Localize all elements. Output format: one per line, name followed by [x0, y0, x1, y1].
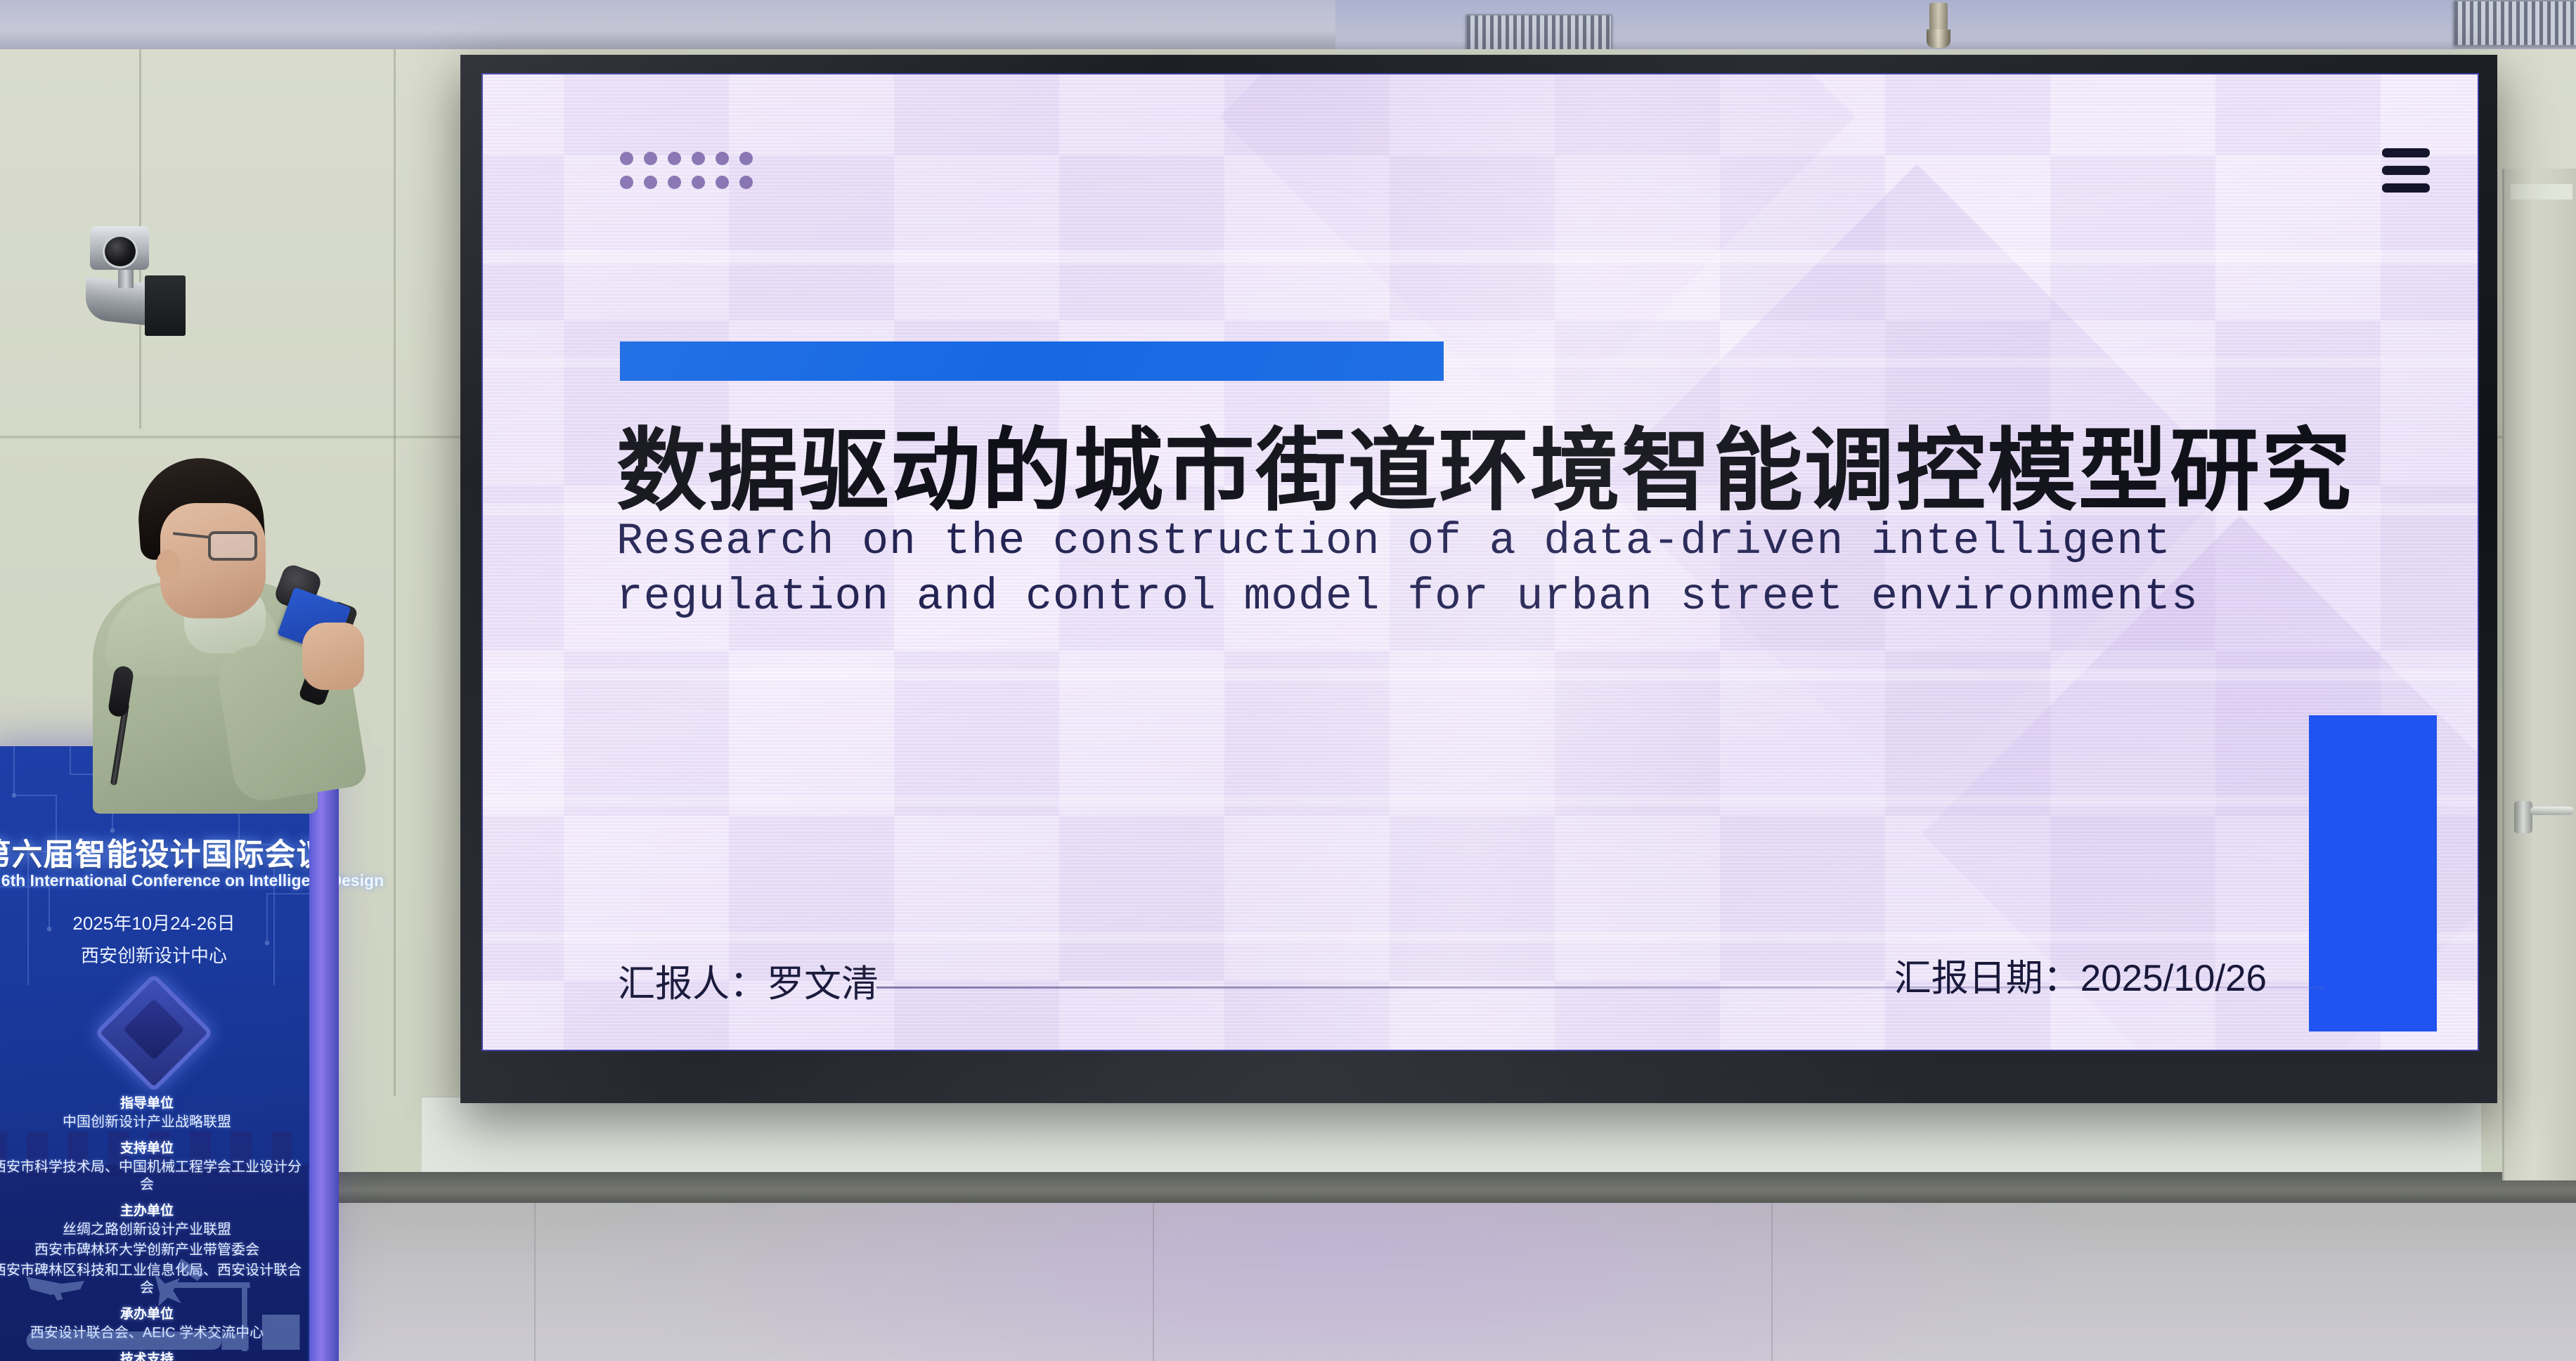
floor	[0, 1203, 2576, 1361]
speaker-ear	[156, 549, 180, 582]
camera-wall-bracket	[145, 275, 186, 336]
conference-date: 2025年10月24-26日	[72, 909, 235, 935]
blue-rectangle-block	[2309, 715, 2437, 1031]
slide-presenter-label: 汇报人：罗文清	[618, 954, 879, 1008]
industry-lineart-icon	[0, 1242, 308, 1361]
decorative-dot	[620, 176, 633, 189]
lower-wall-panel	[422, 1096, 2481, 1180]
organizer-item: 中国创新设计产业战略联盟	[0, 1114, 308, 1131]
conference-podium: ∞ 第六届智能设计国际会议 ICID 2025 6th Internationa…	[0, 746, 322, 1361]
decorative-dot	[739, 176, 753, 189]
subtitle-line-2: regulation and control model for urban s…	[616, 569, 2388, 625]
organizer-item: 西安市科学技术局、中国机械工程学会工业设计分会	[0, 1159, 308, 1194]
decorative-dot	[692, 152, 705, 165]
floor-tile-line	[1153, 1203, 1154, 1361]
speaker-hand	[302, 623, 364, 690]
door-handle-plate[interactable]	[2514, 801, 2532, 833]
organizer-heading: 支持单位	[0, 1138, 308, 1157]
fire-sprinkler-icon	[1927, 30, 1950, 48]
decorative-dot	[668, 176, 681, 189]
podium-side-edge	[309, 746, 339, 1361]
hamburger-menu-icon[interactable]	[2382, 148, 2430, 193]
organizer-heading: 指导单位	[0, 1093, 308, 1112]
blue-accent-bar	[620, 341, 1444, 381]
conference-room-photo: 数据驱动的城市街道环境智能调控模型研究 Research on the cons…	[0, 0, 2576, 1361]
presentation-slide: 数据驱动的城市街道环境智能调控模型研究 Research on the cons…	[481, 73, 2479, 1051]
dot-grid-decoration	[620, 152, 763, 200]
conference-venue: 西安创新设计中心	[81, 942, 227, 968]
organizer-item: 丝绸之路创新设计产业联盟	[0, 1221, 308, 1239]
conference-title: 第六届智能设计国际会议	[0, 829, 328, 874]
hamburger-bar	[2382, 166, 2430, 175]
camera-lens-icon	[103, 235, 138, 268]
wall-seam	[394, 49, 396, 1096]
slide-subtitle-english: Research on the construction of a data-d…	[616, 514, 2388, 625]
door-lever-handle-icon[interactable]	[2530, 807, 2574, 815]
eyeglasses-icon	[208, 531, 257, 561]
slide-date-label: 汇报日期：2025/10/26	[1894, 949, 2267, 1002]
hamburger-bar	[2382, 183, 2430, 193]
door-trim	[2511, 184, 2572, 200]
floor-tile-line	[534, 1203, 536, 1361]
slide-title-chinese: 数据驱动的城市街道环境智能调控模型研究	[616, 398, 2402, 528]
decorative-dot	[644, 152, 657, 165]
decorative-dot	[620, 152, 633, 165]
room-door[interactable]	[2502, 169, 2576, 1180]
decorative-dot	[716, 176, 729, 189]
subtitle-line-1: Research on the construction of a data-d…	[616, 514, 2388, 569]
decorative-dot	[739, 152, 753, 165]
floor-tile-line	[1771, 1203, 1773, 1361]
sprinkler-stem	[1929, 3, 1948, 32]
decorative-dot	[692, 176, 705, 189]
decorative-dot	[668, 152, 681, 165]
led-display-bezel: 数据驱动的城市街道环境智能调控模型研究 Research on the cons…	[460, 55, 2497, 1103]
ceiling-vent-right	[2453, 0, 2576, 46]
hamburger-bar	[2382, 148, 2430, 157]
organizer-heading: 主办单位	[0, 1200, 308, 1219]
decorative-dot	[716, 152, 729, 165]
decorative-dot	[644, 176, 657, 189]
